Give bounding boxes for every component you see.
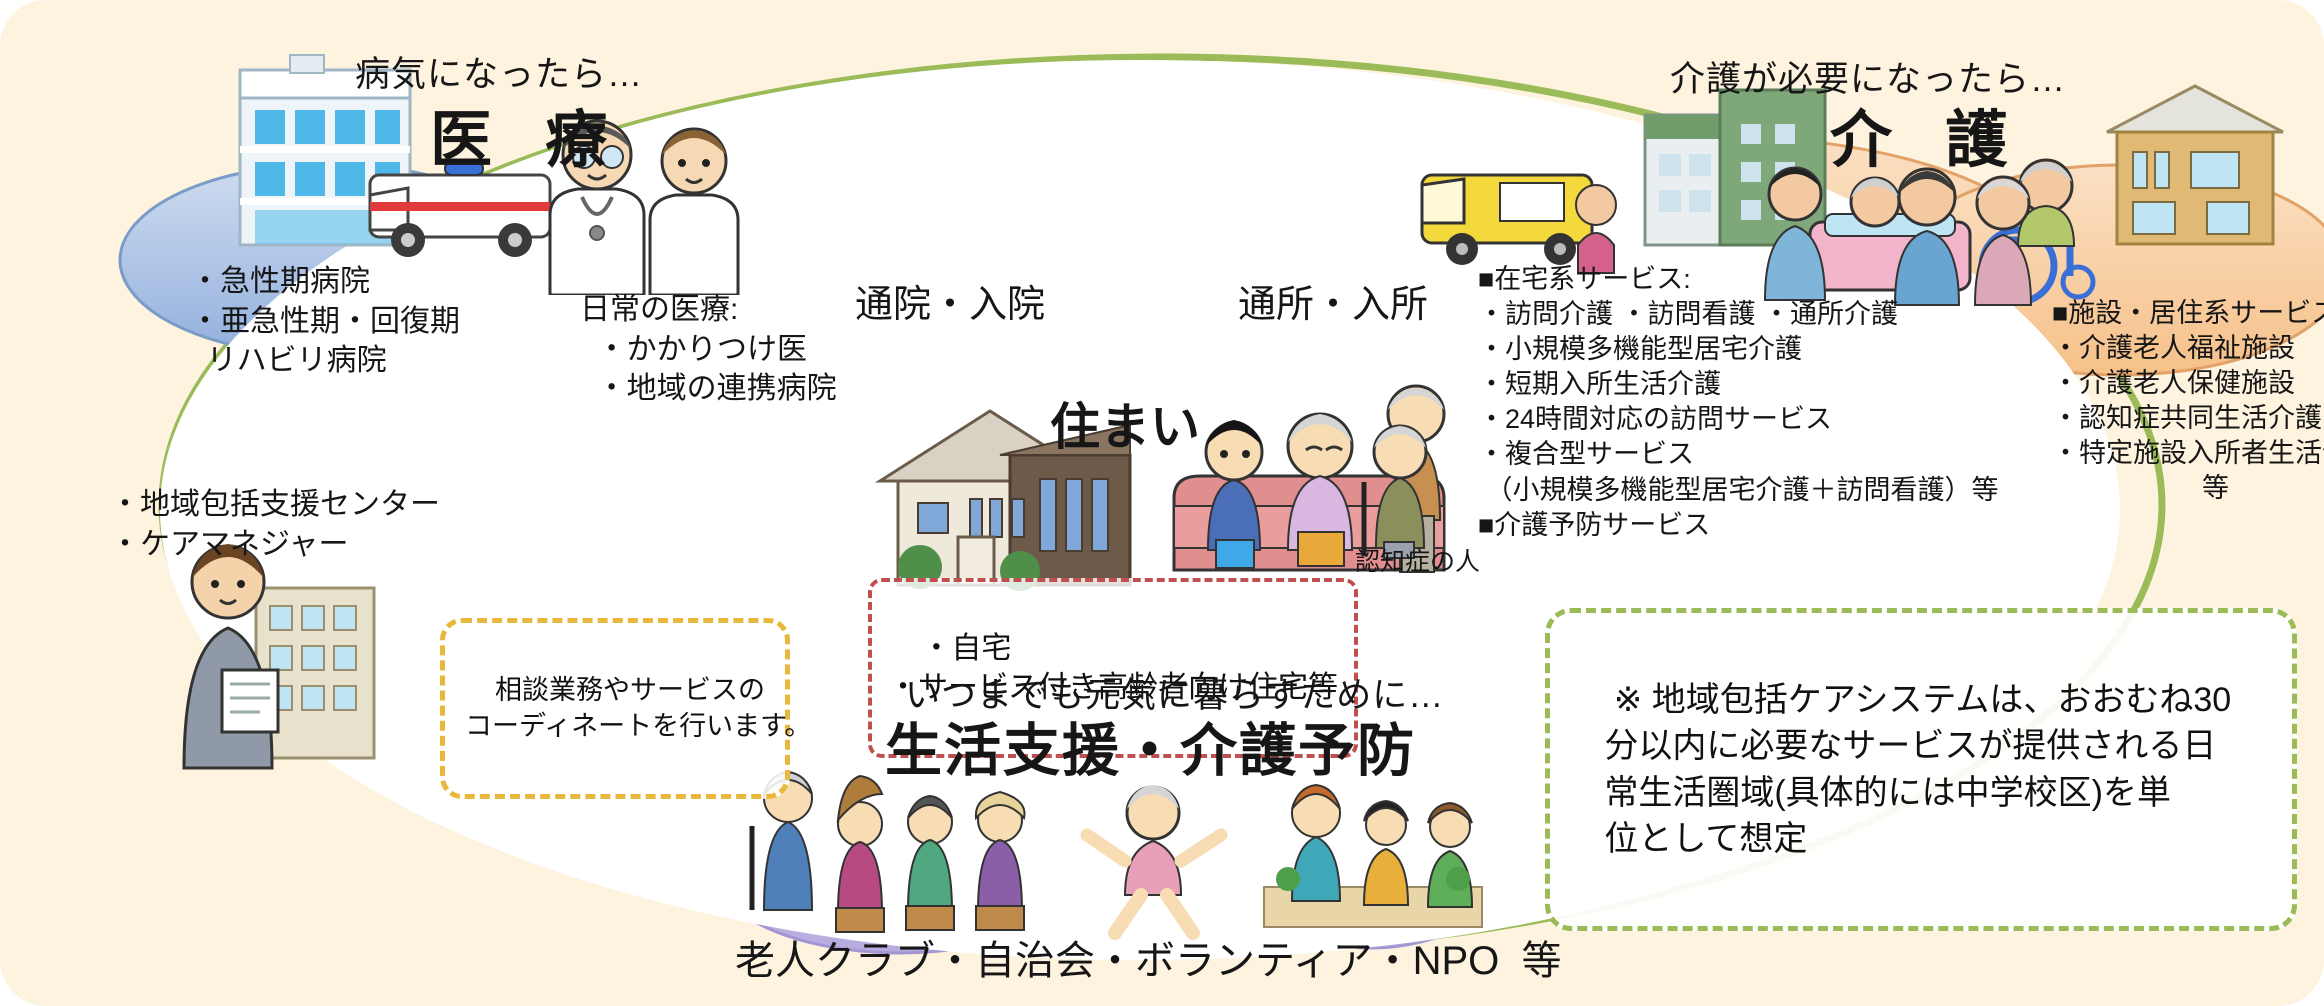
- facility-service-list: ■施設・居住系サービス ・介護老人福祉施設 ・介護老人保健施設 ・認知症共同生活…: [2052, 296, 2324, 507]
- elderly-club-illustration: [740, 760, 1070, 940]
- volunteer-gardening-illustration: [1258, 775, 1488, 940]
- system-note-text: ※ 地域包括ケアシステムは、おおむね30 分以内に必要なサービスが提供される日 …: [1576, 681, 2231, 858]
- prevention-footer: 老人クラブ・自治会・ボランティア・NPO 等: [735, 938, 1562, 984]
- dementia-person-illustration: [1340, 420, 1460, 560]
- prevention-lead: いつまでも元気に暮らすために…: [905, 676, 1444, 717]
- housing-heading: 住まい: [1050, 398, 1200, 456]
- daily-clinic-list: 日常の医療: ・かかりつけ医 ・地域の連携病院: [580, 290, 837, 409]
- system-note-box: ※ 地域包括ケアシステムは、おおむね30 分以内に必要なサービスが提供される日 …: [1545, 608, 2297, 931]
- diagram-canvas: 病気になったら… 医 療 ・急性期病院 ・亜急性期・回復期 リハビリ病院 日常の…: [0, 0, 2324, 1006]
- dementia-person-label: 認知症の人: [1355, 548, 1480, 577]
- care-manager-illustration: [170, 530, 380, 770]
- medical-heading: 医 療: [430, 105, 625, 177]
- prevention-heading: 生活支援・介護予防: [885, 718, 1416, 784]
- flow-label-to-hospital: 通院・入院: [855, 283, 1045, 327]
- residential-house-illustration: [2095, 70, 2295, 260]
- acute-hospital-list: ・急性期病院 ・亜急性期・回復期 リハビリ病院: [190, 262, 460, 381]
- medical-lead: 病気になったら…: [355, 55, 643, 96]
- home-care-service-list: ■在宅系サービス: ・訪問介護 ・訪問看護 ・通所介護 ・小規模多機能型居宅介護…: [1478, 262, 1999, 543]
- coordination-note-text: 相談業務やサービスの コーディネートを行います。: [465, 675, 811, 742]
- exercise-illustration: [1075, 775, 1235, 940]
- coordination-note-box: 相談業務やサービスの コーディネートを行います。: [440, 618, 790, 799]
- flow-label-to-facility: 通所・入所: [1238, 283, 1428, 327]
- care-lead: 介護が必要になったら…: [1670, 60, 2066, 101]
- support-center-labels: ・地域包括支援センター ・ケアマネジャー: [110, 485, 440, 564]
- care-heading: 介 護: [1830, 105, 2025, 177]
